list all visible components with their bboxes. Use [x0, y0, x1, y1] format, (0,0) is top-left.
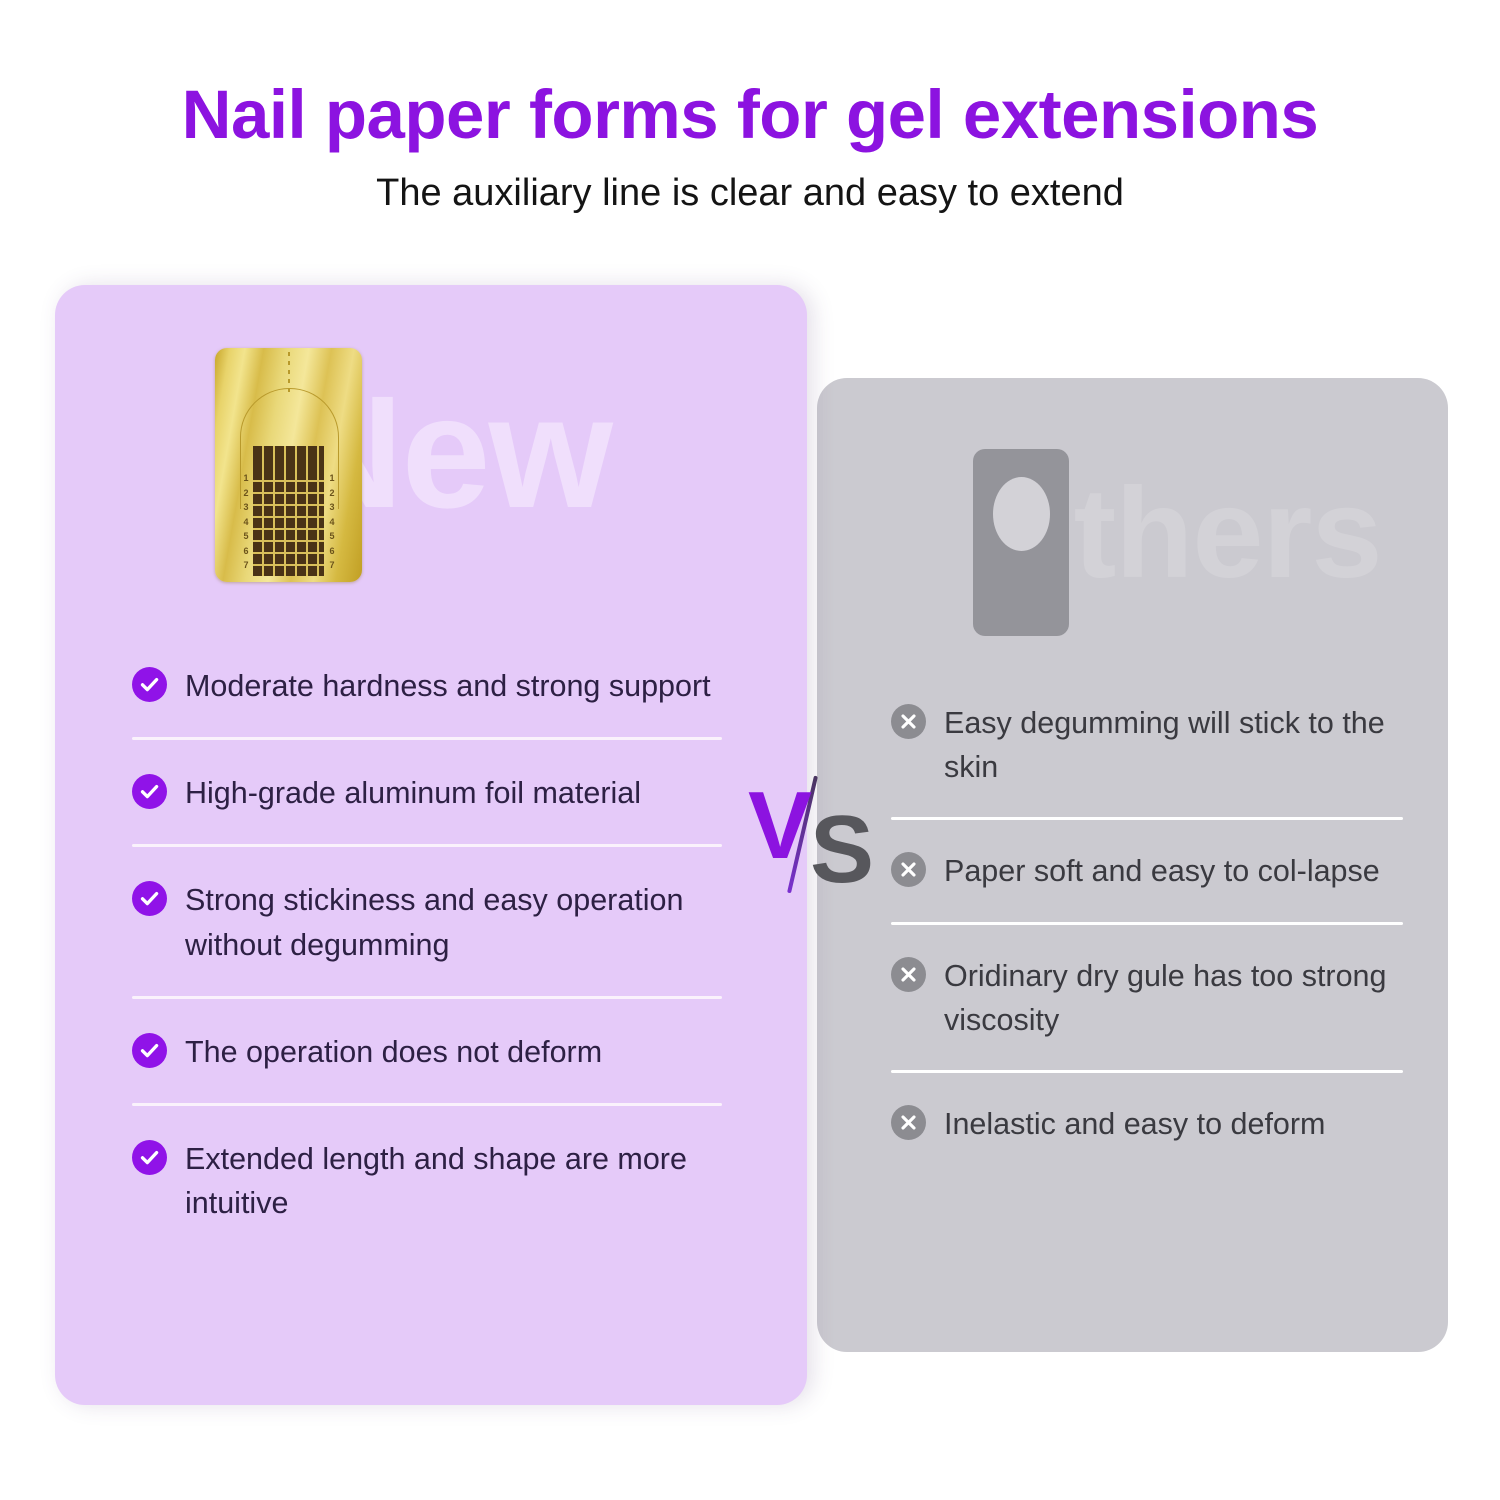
measurement-grid: [253, 446, 324, 576]
scale-number: 2: [329, 489, 334, 498]
new-feature-list: Moderate hardness and strong support Hig…: [132, 663, 722, 1226]
cross-icon: [891, 1105, 926, 1140]
scale-number: 6: [243, 547, 248, 556]
list-item-label: Inelastic and easy to deform: [944, 1101, 1325, 1146]
comparison-infographic: Nail paper forms for gel extensions The …: [0, 0, 1500, 1500]
list-item-label: Strong stickiness and easy operation wit…: [185, 877, 722, 966]
list-item-label: Extended length and shape are more intui…: [185, 1136, 722, 1225]
vs-letter-s: S: [810, 802, 874, 898]
scale-number: 1: [243, 474, 248, 483]
scale-number: 2: [243, 489, 248, 498]
list-divider: [132, 737, 722, 740]
scale-numbers-left: 1 2 3 4 5 6 7: [239, 474, 253, 576]
list-item-label: The operation does not deform: [185, 1029, 602, 1074]
check-icon: [132, 1033, 167, 1068]
list-item: Easy degumming will stick to the skin: [891, 700, 1403, 789]
list-item: Moderate hardness and strong support: [132, 663, 722, 708]
list-divider: [891, 1070, 1403, 1073]
others-feature-list: Easy degumming will stick to the skin Pa…: [891, 700, 1403, 1146]
check-icon: [132, 881, 167, 916]
list-item-label: Moderate hardness and strong support: [185, 663, 711, 708]
list-divider: [891, 922, 1403, 925]
scale-number: 4: [243, 518, 248, 527]
scale-number: 4: [329, 518, 334, 527]
list-divider: [132, 844, 722, 847]
cross-icon: [891, 852, 926, 887]
list-item-label: High-grade aluminum foil material: [185, 770, 641, 815]
check-icon: [132, 774, 167, 809]
list-item: Paper soft and easy to col-lapse: [891, 848, 1403, 893]
page-subtitle: The auxiliary line is clear and easy to …: [0, 173, 1500, 215]
scale-number: 6: [329, 547, 334, 556]
scale-number: 5: [243, 532, 248, 541]
nail-opening-shape: [993, 477, 1050, 551]
scale-numbers-right: 1 2 3 4 5 6 7: [325, 474, 339, 576]
scale-number: 7: [243, 561, 248, 570]
scale-number: 7: [329, 561, 334, 570]
header: Nail paper forms for gel extensions The …: [0, 78, 1500, 215]
list-item: The operation does not deform: [132, 1029, 722, 1074]
list-item-label: Oridinary dry gule has too strong viscos…: [944, 953, 1403, 1042]
scale-number: 3: [329, 503, 334, 512]
list-divider: [891, 817, 1403, 820]
cross-icon: [891, 704, 926, 739]
list-divider: [132, 996, 722, 999]
gold-aluminum-nail-form-image: 1 2 3 4 5 6 7 1 2 3 4 5 6 7: [215, 348, 362, 582]
list-item: High-grade aluminum foil material: [132, 770, 722, 815]
list-item: Inelastic and easy to deform: [891, 1101, 1403, 1146]
list-item-label: Easy degumming will stick to the skin: [944, 700, 1403, 789]
list-item: Oridinary dry gule has too strong viscos…: [891, 953, 1403, 1042]
scale-number: 5: [329, 532, 334, 541]
list-divider: [132, 1103, 722, 1106]
page-title: Nail paper forms for gel extensions: [0, 78, 1500, 151]
check-icon: [132, 1140, 167, 1175]
vs-letter-v: V: [748, 778, 812, 874]
list-item-label: Paper soft and easy to col-lapse: [944, 848, 1380, 893]
scale-number: 3: [243, 503, 248, 512]
check-icon: [132, 667, 167, 702]
list-item: Extended length and shape are more intui…: [132, 1136, 722, 1225]
cross-icon: [891, 957, 926, 992]
scale-number: 1: [329, 474, 334, 483]
plain-paper-nail-form-image: [973, 449, 1069, 636]
vs-badge: V S: [748, 772, 878, 900]
list-item: Strong stickiness and easy operation wit…: [132, 877, 722, 966]
